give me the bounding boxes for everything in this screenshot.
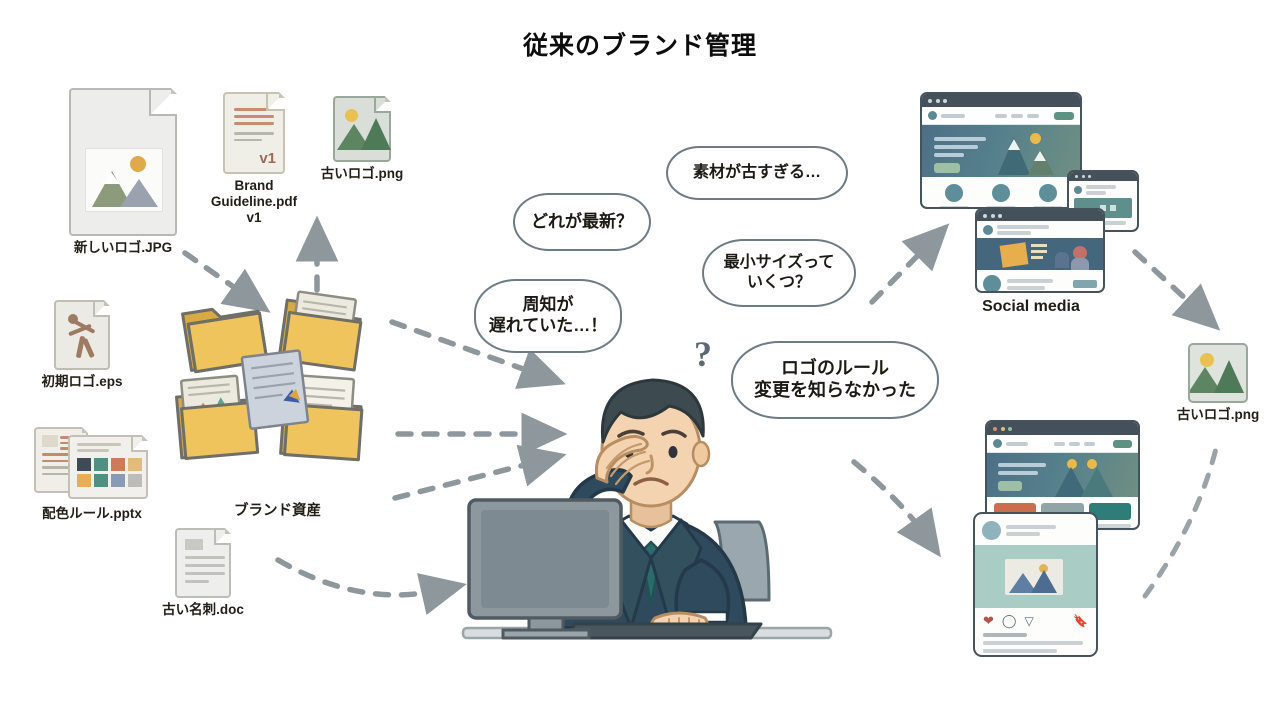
pdf-document-icon: v1 bbox=[223, 92, 285, 174]
image-document-icon bbox=[69, 88, 177, 236]
speech-bubble-text: 最小サイズって いくつ？ bbox=[724, 253, 835, 292]
messy-folders-icon bbox=[170, 285, 385, 500]
file-item-old-logo-left[interactable]: 古いロゴ.png bbox=[312, 96, 412, 182]
arrow-person-to-web bbox=[854, 462, 925, 535]
hero-banner bbox=[987, 453, 1138, 497]
text-document-icon bbox=[175, 528, 231, 598]
speech-bubble-which-latest: どれが最新？ bbox=[513, 193, 651, 251]
window-navbar bbox=[987, 435, 1138, 453]
social-post-card[interactable]: ❤ ◯ ▽ 🔖 bbox=[973, 512, 1098, 657]
window-dot-icon bbox=[1075, 175, 1078, 178]
file-caption: 配色ルール.pptx bbox=[12, 506, 172, 522]
window-dot-icon bbox=[993, 427, 997, 431]
web-social-cluster[interactable]: ❤ ◯ ▽ 🔖 bbox=[965, 420, 1185, 670]
window-dot-icon bbox=[928, 99, 932, 103]
site-logo-icon bbox=[993, 439, 1002, 448]
window-dot-icon bbox=[1088, 175, 1091, 178]
image-file-icon bbox=[333, 96, 391, 162]
window-dot-icon bbox=[1082, 175, 1085, 178]
window-dot-icon bbox=[998, 214, 1002, 218]
avatar bbox=[983, 225, 993, 235]
speech-bubble-text: どれが最新？ bbox=[531, 212, 633, 233]
social-media-cluster[interactable]: ❤ ◯ ▽ bbox=[915, 90, 1145, 320]
window-dot-icon bbox=[983, 214, 987, 218]
file-caption: 古い名刺.doc bbox=[128, 602, 278, 618]
file-caption: 古いロゴ.png bbox=[312, 166, 412, 182]
avatar bbox=[982, 521, 1001, 540]
speech-bubble-text: 素材が古すぎる… bbox=[693, 163, 821, 183]
window-titlebar bbox=[922, 94, 1080, 107]
file-caption: 初期ロゴ.eps bbox=[17, 374, 147, 390]
speech-bubble-assets-too-old: 素材が古すぎる… bbox=[666, 146, 848, 200]
speech-bubble-min-size: 最小サイズって いくつ？ bbox=[702, 239, 856, 307]
browser-window-main[interactable] bbox=[920, 92, 1082, 209]
cta-button[interactable] bbox=[1113, 440, 1132, 448]
cta-button[interactable] bbox=[1073, 280, 1097, 288]
heart-icon[interactable]: ❤ bbox=[983, 614, 994, 627]
post-image bbox=[975, 545, 1096, 608]
image-file-icon bbox=[1188, 343, 1248, 403]
cta-button[interactable] bbox=[1054, 112, 1074, 120]
bookmark-icon[interactable]: 🔖 bbox=[1073, 615, 1088, 627]
file-caption: 新しいロゴ.JPG bbox=[48, 240, 198, 256]
avatar bbox=[983, 275, 1001, 293]
window-dot-icon bbox=[943, 99, 947, 103]
presentation-document-icon bbox=[68, 435, 148, 499]
cluster-label-brand-assets: ブランド資産 bbox=[170, 499, 385, 520]
browser-window-secondary[interactable] bbox=[975, 208, 1105, 293]
frustrated-worker-illustration bbox=[455, 330, 855, 670]
window-dot-icon bbox=[991, 214, 995, 218]
file-item-new-logo[interactable]: 新しいロゴ.JPG bbox=[48, 88, 198, 256]
version-badge: v1 bbox=[259, 150, 276, 167]
window-navbar bbox=[922, 107, 1080, 125]
hero-banner bbox=[922, 125, 1080, 177]
file-item-old-business-card[interactable]: 古い名刺.doc bbox=[128, 528, 278, 618]
file-item-initial-logo[interactable]: 初期ロゴ.eps bbox=[17, 300, 147, 390]
slide-canvas: 従来のブランド管理 bbox=[0, 0, 1280, 720]
post-image bbox=[977, 238, 1103, 270]
window-titlebar bbox=[987, 422, 1138, 435]
window-dot-icon bbox=[1001, 427, 1005, 431]
site-logo-icon bbox=[928, 111, 937, 120]
file-item-brand-guideline[interactable]: v1 Brand Guideline.pdf v1 bbox=[200, 92, 308, 226]
window-dot-icon bbox=[1008, 427, 1012, 431]
comment-icon[interactable]: ◯ bbox=[1002, 614, 1017, 627]
brand-assets-cluster[interactable]: ブランド資産 bbox=[170, 285, 385, 500]
file-item-old-logo-right[interactable]: 古いロゴ.png bbox=[1163, 343, 1273, 423]
vector-document-icon bbox=[54, 300, 110, 370]
cluster-label-social-media: Social media bbox=[931, 298, 1131, 316]
file-caption: Brand Guideline.pdf v1 bbox=[200, 178, 308, 226]
window-dot-icon bbox=[936, 99, 940, 103]
window-titlebar bbox=[1069, 172, 1137, 181]
page-title: 従来のブランド管理 bbox=[0, 26, 1280, 62]
avatar bbox=[1074, 186, 1082, 194]
window-titlebar bbox=[977, 210, 1103, 221]
share-icon[interactable]: ▽ bbox=[1024, 615, 1033, 627]
file-item-color-rules[interactable]: 配色ルール.pptx bbox=[12, 424, 172, 522]
arrow-oldcard-to-person bbox=[278, 560, 440, 595]
